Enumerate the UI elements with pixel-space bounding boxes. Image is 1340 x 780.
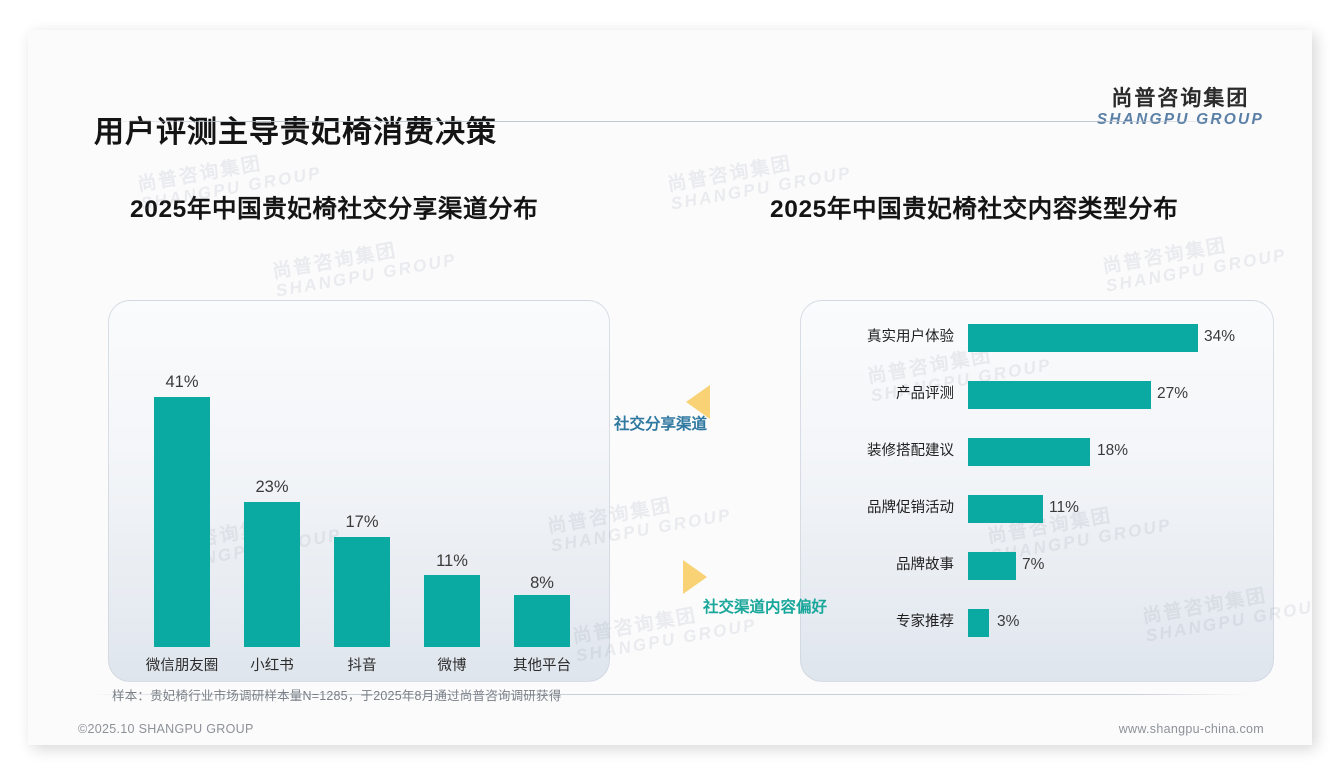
bar-column[interactable]: 11% 微博 [408, 392, 496, 687]
logo-chinese-text: 尚普咨询集团 [1097, 88, 1264, 111]
bar-category-label: 专家推荐 [828, 603, 954, 641]
bar-row[interactable]: 专家推荐 3% [828, 603, 1258, 641]
bar-category-label: 抖音 [312, 654, 412, 675]
bar-rect[interactable] [968, 324, 1198, 352]
bar-value-label: 17% [318, 513, 406, 532]
bar-rect[interactable] [968, 609, 989, 637]
bar-value-label: 8% [498, 574, 586, 593]
bar-category-label: 装修搭配建议 [828, 432, 954, 470]
bar-category-label: 品牌促销活动 [828, 489, 954, 527]
bar-rect[interactable] [968, 381, 1151, 409]
bar-category-label: 微博 [402, 654, 502, 675]
bar-value-label: 11% [408, 552, 496, 571]
sample-footnote: 样本：贵妃椅行业市场调研样本量N=1285，于2025年8月通过尚普咨询调研获得 [112, 685, 561, 704]
bar-column[interactable]: 23% 小红书 [228, 392, 316, 687]
watermark: 尚普咨询集团SHANGPU GROUP [271, 231, 458, 300]
bar-rect[interactable] [968, 495, 1043, 523]
bar-value-label: 18% [1097, 432, 1128, 470]
bar-row[interactable]: 品牌故事 7% [828, 546, 1258, 584]
bar-column[interactable]: 41% 微信朋友圈 [138, 392, 226, 687]
slide-body: 2025年中国贵妃椅社交分享渠道分布 2025年中国贵妃椅社交内容类型分布 尚普… [28, 122, 1312, 682]
bar-column[interactable]: 8% 其他平台 [498, 392, 586, 687]
bar-rect[interactable] [968, 438, 1090, 466]
website-link[interactable]: www.shangpu-china.com [1119, 722, 1264, 736]
bar-category-label: 品牌故事 [828, 546, 954, 584]
triangle-right-icon [683, 560, 707, 594]
bar-category-label: 小红书 [222, 654, 322, 675]
bar-value-label: 41% [138, 373, 226, 392]
social-share-channel-bar-chart: 41% 微信朋友圈 23% 小红书 17% 抖音 11% [138, 392, 608, 687]
bar-category-label: 其他平台 [492, 654, 592, 675]
bar-rect[interactable] [968, 552, 1016, 580]
slide-footer: ©2025.10 SHANGPU GROUP www.shangpu-china… [28, 713, 1312, 745]
bar-rect[interactable] [424, 575, 480, 647]
copyright-text: ©2025.10 SHANGPU GROUP [78, 722, 254, 736]
bar-value-label: 23% [228, 478, 316, 497]
bar-column[interactable]: 17% 抖音 [318, 392, 406, 687]
slide-page: 用户评测主导贵妃椅消费决策 尚普咨询集团 SHANGPU GROUP 2025年… [0, 0, 1340, 780]
bar-row[interactable]: 装修搭配建议 18% [828, 432, 1258, 470]
connector-bottom-label: 社交渠道内容偏好 [703, 595, 827, 617]
right-chart-title: 2025年中国贵妃椅社交内容类型分布 [770, 190, 1178, 225]
watermark: 尚普咨询集团SHANGPU GROUP [1101, 226, 1288, 295]
bar-value-label: 3% [997, 603, 1019, 641]
bar-row[interactable]: 产品评测 27% [828, 375, 1258, 413]
bar-row[interactable]: 品牌促销活动 11% [828, 489, 1258, 527]
bar-value-label: 27% [1157, 375, 1188, 413]
bar-category-label: 微信朋友圈 [132, 654, 232, 675]
social-content-type-bar-chart: 真实用户体验 34% 产品评测 27% 装修搭配建议 18% 品牌促销活动 [828, 318, 1258, 666]
bar-value-label: 7% [1022, 546, 1044, 584]
bar-category-label: 产品评测 [828, 375, 954, 413]
slide-header: 用户评测主导贵妃椅消费决策 尚普咨询集团 SHANGPU GROUP [28, 30, 1312, 122]
bar-rect[interactable] [154, 397, 210, 647]
bar-row[interactable]: 真实用户体验 34% [828, 318, 1258, 356]
bar-category-label: 真实用户体验 [828, 318, 954, 356]
bar-value-label: 34% [1204, 318, 1235, 356]
bar-rect[interactable] [244, 502, 300, 647]
bar-rect[interactable] [334, 537, 390, 647]
slide-card: 用户评测主导贵妃椅消费决策 尚普咨询集团 SHANGPU GROUP 2025年… [28, 30, 1312, 745]
connector-top-label: 社交分享渠道 [614, 412, 707, 434]
bar-value-label: 11% [1049, 489, 1079, 527]
bar-rect[interactable] [514, 595, 570, 647]
left-chart-title: 2025年中国贵妃椅社交分享渠道分布 [130, 190, 538, 225]
